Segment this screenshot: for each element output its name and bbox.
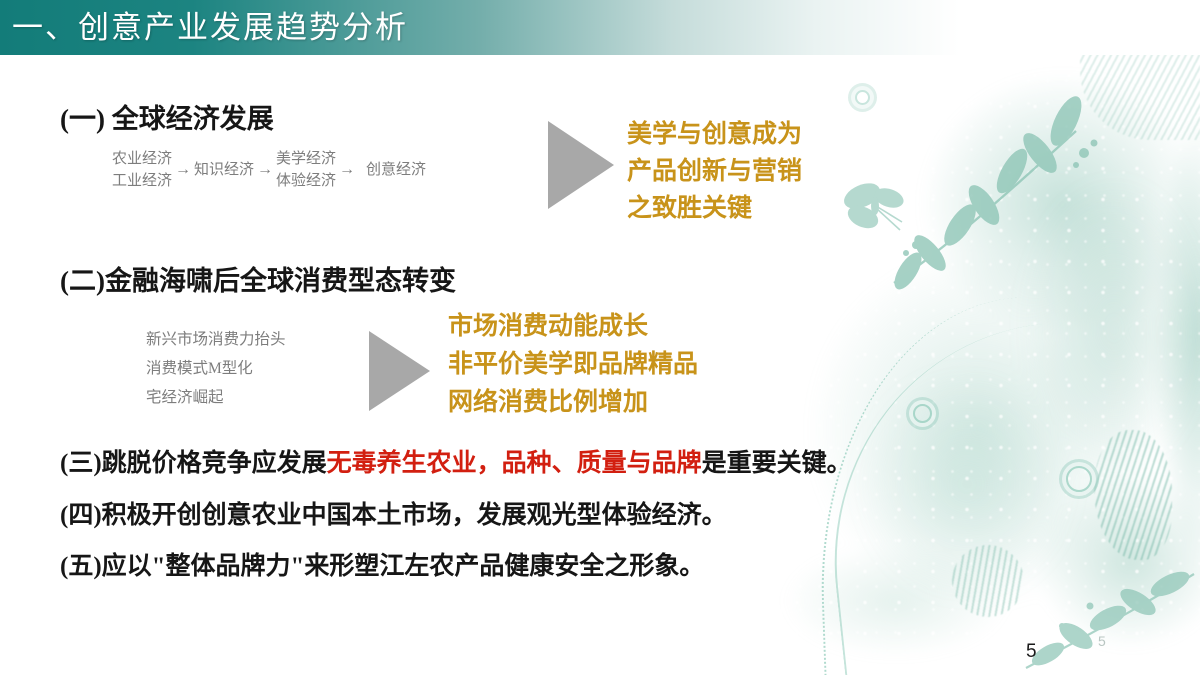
section-two-callout-line-1: 市场消费动能成长	[448, 308, 698, 346]
leafy-sprig-icon	[880, 95, 1110, 295]
chain-arrow-1-icon: →	[172, 159, 194, 181]
statement-three-suffix: 是重要关键。	[702, 450, 852, 477]
page-title: 一、创意产业发展趋势分析	[12, 6, 408, 50]
ring-icon	[855, 90, 870, 105]
section-two-points: 新兴市场消费力抬头 消费模式M型化 宅经济崛起	[146, 325, 286, 412]
economy-evolution-chain: 农业经济 工业经济 → 知识经济 → 美学经济 体验经济 → 创意经济	[112, 148, 426, 192]
section-two-point-1: 新兴市场消费力抬头	[146, 325, 286, 354]
section-two-point-3: 宅经济崛起	[146, 383, 286, 412]
triangle-right-icon	[369, 331, 430, 411]
ring-icon	[913, 404, 932, 423]
triangle-right-icon	[548, 121, 614, 209]
slide-canvas: 一、创意产业发展趋势分析 (一) 全球经济发展 农业经济 工业经济 → 知识经济…	[0, 0, 1200, 675]
section-one-callout: 美学与创意成为 产品创新与营销 之致胜关键	[627, 116, 802, 227]
section-one-heading: (一) 全球经济发展	[60, 102, 274, 136]
leafy-sprig-icon	[1020, 560, 1200, 675]
section-two-heading: (二)金融海啸后全球消费型态转变	[60, 264, 456, 298]
striped-blob-shape	[1094, 430, 1172, 560]
section-two-point-2: 消费模式M型化	[146, 354, 286, 383]
chain-step-4: 创意经济	[366, 159, 426, 181]
statement-three-prefix: (三)跳脱价格竞争应发展	[60, 450, 327, 477]
section-two-callout-line-2: 非平价美学即品牌精品	[448, 346, 698, 384]
statement-three: (三)跳脱价格竞争应发展无毒养生农业，品种、质量与品牌是重要关键。	[60, 447, 852, 481]
page-number: 5	[1026, 641, 1037, 663]
chain-step-3-line-1: 美学经济	[276, 148, 336, 170]
chain-step-2: 知识经济	[194, 159, 254, 181]
section-two-callout-line-3: 网络消费比例增加	[448, 384, 698, 422]
section-one-callout-line-1: 美学与创意成为	[627, 116, 802, 153]
slide-header-bar: 一、创意产业发展趋势分析	[0, 0, 1200, 55]
chain-step-3: 美学经济 体验经济	[276, 148, 336, 192]
chain-step-1-line-1: 农业经济	[112, 148, 172, 170]
butterfly-icon	[842, 176, 912, 238]
chain-step-1: 农业经济 工业经济	[112, 148, 172, 192]
section-two-callout: 市场消费动能成长 非平价美学即品牌精品 网络消费比例增加	[448, 308, 698, 422]
section-one-callout-line-3: 之致胜关键	[627, 190, 802, 227]
chain-arrow-3-icon: →	[336, 159, 358, 181]
statement-three-highlight: 无毒养生农业，品种、质量与品牌	[327, 450, 702, 477]
chain-step-1-line-2: 工业经济	[112, 170, 172, 192]
statement-four: (四)积极开创创意农业中国本土市场，发展观光型体验经济。	[60, 499, 727, 533]
ring-icon	[1066, 466, 1092, 492]
striped-circle-shape	[952, 545, 1024, 617]
page-number-watermark: 5	[1098, 633, 1106, 649]
chain-step-3-line-2: 体验经济	[276, 170, 336, 192]
section-one-callout-line-2: 产品创新与营销	[627, 153, 802, 190]
chain-arrow-2-icon: →	[254, 159, 276, 181]
statement-five: (五)应以"整体品牌力"来形塑江左农产品健康安全之形象。	[60, 550, 704, 584]
